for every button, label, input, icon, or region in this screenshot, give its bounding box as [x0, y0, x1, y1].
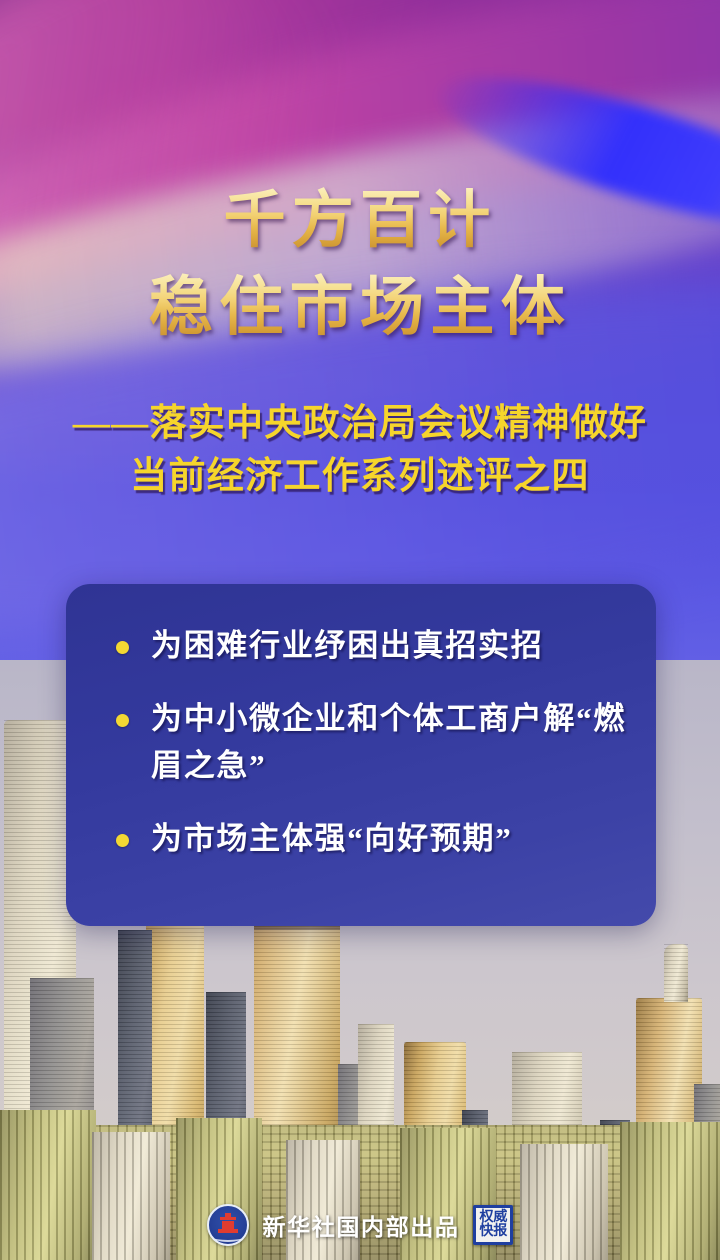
poster-footer: 新华社国内部出品 权威 快报: [0, 1204, 720, 1246]
badge-line-2: 快报: [479, 1225, 507, 1239]
list-item: 为困难行业纾困出真招实招: [116, 622, 630, 669]
bullet-dot-icon: [116, 834, 129, 847]
poster-title: 千方百计 稳住市场主体: [0, 182, 720, 349]
highlights-card: 为困难行业纾困出真招实招 为中小微企业和个体工商户解“燃眉之急” 为市场主体强“…: [66, 584, 656, 926]
producer-label: 新华社国内部出品: [263, 1208, 460, 1242]
subtitle-line-1: ——落实中央政治局会议精神做好: [0, 398, 720, 451]
logo-arc: [213, 1233, 243, 1242]
bullet-text-1: 为困难行业纾困出真招实招: [151, 622, 543, 669]
title-line-2: 稳住市场主体: [0, 267, 720, 349]
authority-bulletin-badge: 权威 快报: [473, 1205, 513, 1245]
subtitle-line-2: 当前经济工作系列述评之四: [0, 451, 720, 504]
highlights-list: 为困难行业纾困出真招实招 为中小微企业和个体工商户解“燃眉之急” 为市场主体强“…: [116, 622, 630, 862]
bullet-dot-icon: [116, 641, 129, 654]
badge-line-1: 权威: [479, 1211, 507, 1225]
bullet-text-2: 为中小微企业和个体工商户解“燃眉之急”: [151, 695, 630, 789]
title-line-1: 千方百计: [0, 182, 720, 261]
news-poster: 千方百计 稳住市场主体 ——落实中央政治局会议精神做好 当前经济工作系列述评之四…: [0, 0, 720, 1260]
bullet-dot-icon: [116, 714, 129, 727]
bullet-text-3: 为市场主体强“向好预期”: [151, 815, 512, 862]
poster-subtitle: ——落实中央政治局会议精神做好 当前经济工作系列述评之四: [0, 398, 720, 503]
list-item: 为市场主体强“向好预期”: [116, 815, 630, 862]
building-antenna-tower: [664, 944, 688, 1002]
xinhua-logo-icon: [207, 1204, 249, 1246]
list-item: 为中小微企业和个体工商户解“燃眉之急”: [116, 695, 630, 789]
tiananmen-emblem-icon: [218, 1213, 238, 1234]
